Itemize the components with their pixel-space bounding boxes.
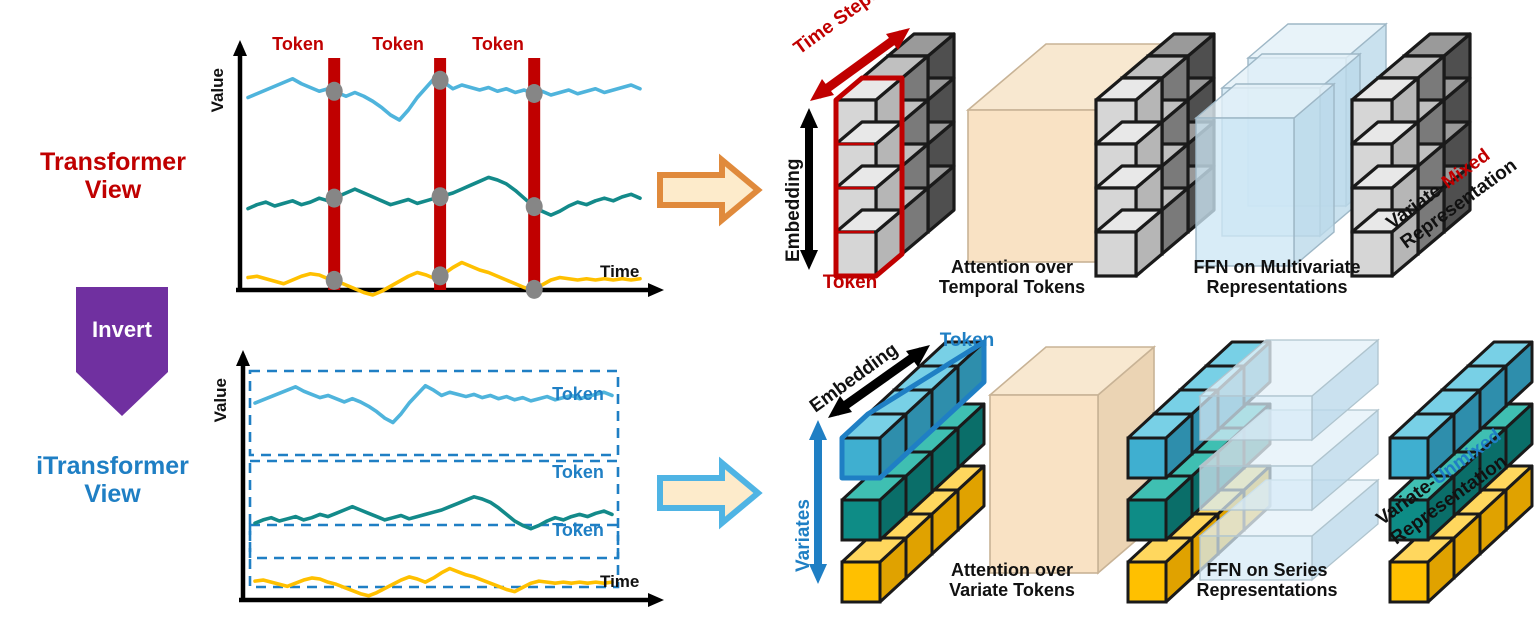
bottom-x-axis-label: Time — [600, 572, 639, 592]
top-x-axis-label: Time — [600, 262, 639, 282]
stage-arrow-top — [660, 160, 758, 220]
attention-temporal-line1: Attention over — [951, 257, 1073, 277]
ffn-boxes-bottom — [1200, 340, 1378, 580]
bottom-y-axis-label: Value — [211, 378, 231, 422]
top-token-dot-0-2 — [326, 271, 343, 290]
attention-variate-line1: Attention over — [951, 560, 1073, 580]
top-cube-token-label: Token — [805, 272, 895, 293]
top-token-dot-2-1 — [526, 197, 543, 216]
ffn-multivariate-caption: FFN on Multivariate Representations — [1152, 257, 1402, 297]
invert-label: Invert — [76, 318, 168, 343]
top-token-dot-2-2 — [526, 280, 543, 299]
itransformer-view-label: iTransformer View — [10, 452, 215, 508]
top-token-dot-0-1 — [326, 189, 343, 208]
attention-variate-line2: Variate Tokens — [949, 580, 1075, 600]
bottom-token-caption-1: Token — [538, 462, 618, 482]
ffn-series-line2: Representations — [1196, 580, 1337, 600]
variates-label: Variates — [793, 499, 815, 572]
top-y-axis-label: Value — [208, 68, 228, 112]
stage-arrow-bottom — [660, 463, 758, 523]
figure-canvas: Transformer View Value Time Token Token … — [0, 0, 1536, 620]
top-token-caption-2: Token — [458, 34, 538, 54]
bottom-token-caption-2: Token — [538, 520, 618, 540]
top-3d-diagram — [836, 24, 1470, 276]
bottom-chart-series — [255, 386, 612, 596]
itransformer-view-line2: View — [84, 480, 141, 508]
transformer-view-line2: View — [85, 176, 142, 204]
itransformer-view-line1: iTransformer — [36, 452, 189, 480]
top-token-caption-0: Token — [258, 34, 338, 54]
bottom-cube-token-label: Token — [922, 330, 1012, 351]
bottom-input-yellow-cube-0 — [842, 538, 906, 602]
top-token-dot-1-2 — [432, 266, 449, 285]
ffn-multivariate-line2: Representations — [1206, 277, 1347, 297]
figure-svg — [0, 0, 1536, 620]
top-token-dot-1-1 — [432, 187, 449, 206]
ffn-multivariate-line1: FFN on Multivariate — [1193, 257, 1360, 277]
bottom-token-caption-0: Token — [538, 384, 618, 404]
attention-variate-caption: Attention over Variate Tokens — [902, 560, 1122, 600]
top-token-dot-0-0 — [326, 82, 343, 101]
top-token-dot-1-0 — [432, 71, 449, 90]
ffn-box-top-0 — [1196, 84, 1334, 266]
transformer-view-label: Transformer View — [18, 148, 208, 204]
top-token-caption-1: Token — [358, 34, 438, 54]
attention-temporal-line2: Temporal Tokens — [939, 277, 1085, 297]
bottom-series-variate-3-yellow — [255, 569, 612, 596]
ffn-series-caption: FFN on Series Representations — [1152, 560, 1382, 600]
embedding-label-top: Embedding — [783, 159, 805, 262]
top-token-dot-2-0 — [526, 84, 543, 103]
top-token-bar-1 — [434, 58, 446, 290]
attention-temporal-caption: Attention over Temporal Tokens — [902, 257, 1122, 297]
transformer-view-line1: Transformer — [40, 148, 186, 176]
ffn-series-line1: FFN on Series — [1206, 560, 1327, 580]
top-chart-axes — [233, 40, 664, 297]
invert-arrow — [76, 287, 168, 416]
